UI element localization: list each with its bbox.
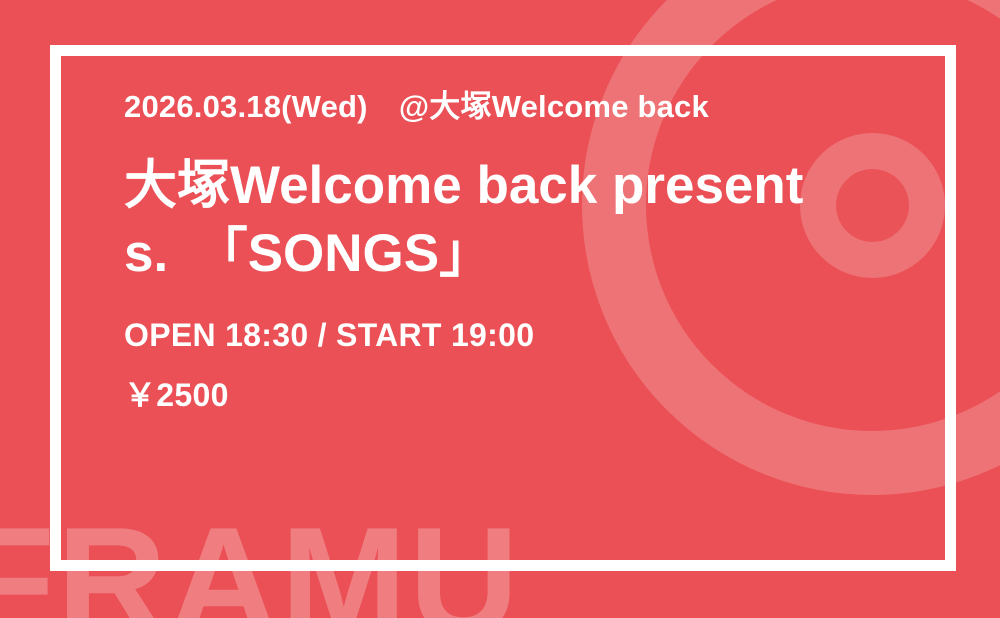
event-time: OPEN 18:30 / START 19:00 [124, 315, 884, 357]
event-title: 大塚Welcome back presents. 「SONGS」 [124, 152, 824, 288]
event-flyer: FRAMU 2026.03.18(Wed) @大塚Welcome back 大塚… [0, 0, 1000, 618]
flyer-content: 2026.03.18(Wed) @大塚Welcome back 大塚Welcom… [124, 88, 884, 417]
event-date-venue: 2026.03.18(Wed) @大塚Welcome back [124, 88, 884, 126]
event-price: ￥2500 [124, 375, 884, 417]
brand-watermark: FRAMU [0, 505, 521, 618]
